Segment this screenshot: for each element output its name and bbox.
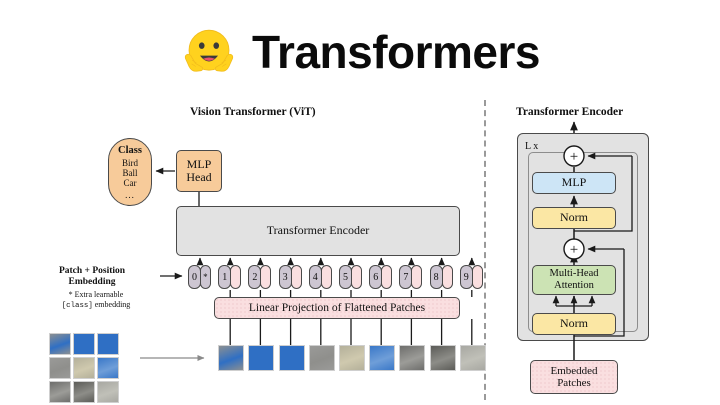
- class-item-car: Car: [124, 178, 137, 188]
- token-chip: 5: [339, 264, 362, 290]
- mha-line2: Attention: [554, 280, 594, 292]
- brand-header: Transformers: [0, 16, 720, 88]
- encoder-norm-top-block: Norm: [532, 207, 616, 229]
- flattened-patch: [460, 345, 486, 371]
- encoder-mlp-block: MLP: [532, 172, 616, 194]
- patch-position-embedding-label: Patch + Position Embedding: [28, 266, 156, 288]
- position-embedding-chip: [472, 265, 483, 289]
- flattened-patch: [430, 345, 456, 371]
- source-image-patch: [73, 381, 95, 403]
- position-embedding-chip: [291, 265, 302, 289]
- source-image-patch: [73, 357, 95, 379]
- mlp-head-line1: MLP: [187, 158, 212, 171]
- token-number: 8: [430, 265, 443, 289]
- embedded-patches-box: Embedded Patches: [530, 360, 618, 394]
- position-embedding-chip: [381, 265, 392, 289]
- token-chip: 8: [430, 264, 453, 290]
- position-embedding-chip: [411, 265, 422, 289]
- token-chip: 3: [279, 264, 302, 290]
- position-embedding-chip: [321, 265, 332, 289]
- class-item-bird: Bird: [122, 158, 138, 168]
- mlp-head-line2: Head: [186, 171, 211, 184]
- class-token-mono: [class]: [62, 302, 93, 310]
- token-chip: 4: [309, 264, 332, 290]
- slide-canvas: Transformers Vision Transformer (ViT) Tr…: [0, 0, 720, 405]
- extra-note-line2: [class] embedding: [34, 300, 158, 311]
- encoder-multi-head-attention-block: Multi-Head Attention: [532, 265, 616, 295]
- flattened-patch: [369, 345, 395, 371]
- position-embedding-chip: [351, 265, 362, 289]
- embedded-patches-line2: Patches: [557, 377, 591, 389]
- token-chip: 9: [460, 264, 483, 290]
- flattened-patch: [399, 345, 425, 371]
- source-image-patch: [97, 333, 119, 355]
- pp-label-line2: Embedding: [28, 277, 156, 288]
- token-chip: 6: [369, 264, 392, 290]
- position-embedding-chip: [260, 265, 271, 289]
- position-embedding-chip: [230, 265, 241, 289]
- token-number: 9: [460, 265, 473, 289]
- vit-panel-title: Vision Transformer (ViT): [190, 106, 316, 118]
- hugging-face-icon: [180, 23, 238, 81]
- source-image-patch: [49, 357, 71, 379]
- extra-note-line1: * Extra learnable: [34, 290, 158, 300]
- linear-projection-box: Linear Projection of Flattened Patches: [214, 297, 460, 319]
- token-chip: 1: [218, 264, 241, 290]
- token-embedding-row: 0*123456789: [188, 264, 478, 290]
- source-image-patch: [97, 357, 119, 379]
- extra-note-suffix: embedding: [95, 300, 131, 309]
- position-embedding-chip: [442, 265, 453, 289]
- source-image-patch: [49, 381, 71, 403]
- page-title: Transformers: [252, 29, 540, 75]
- flattened-patch: [309, 345, 335, 371]
- class-output-box: Class Bird Ball Car ...: [108, 138, 152, 206]
- flattened-patch: [248, 345, 274, 371]
- mlp-head-box: MLP Head: [176, 150, 222, 192]
- embedded-patches-line1: Embedded: [550, 365, 597, 377]
- source-image-patch: [73, 333, 95, 355]
- token-chip: 7: [399, 264, 422, 290]
- transformer-encoder-box: Transformer Encoder: [176, 206, 460, 256]
- encoder-panel-title: Transformer Encoder: [516, 106, 623, 118]
- flattened-patch: [279, 345, 305, 371]
- class-token-star: *: [200, 265, 211, 289]
- class-ellipsis: ...: [125, 190, 135, 200]
- extra-learnable-note: * Extra learnable [class] embedding: [34, 290, 158, 311]
- source-image-patch: [97, 381, 119, 403]
- token-number: 4: [309, 265, 322, 289]
- class-heading: Class: [118, 145, 142, 157]
- encoder-norm-bottom-block: Norm: [532, 313, 616, 335]
- class-item-ball: Ball: [123, 168, 138, 178]
- source-image-patch: [49, 333, 71, 355]
- token-chip: 2: [248, 264, 271, 290]
- flattened-patch: [218, 345, 244, 371]
- token-number: 3: [279, 265, 292, 289]
- encoder-repeat-label: L x: [525, 141, 538, 152]
- mha-line1: Multi-Head: [550, 268, 599, 280]
- pp-label-line1: Patch + Position: [28, 266, 156, 277]
- flattened-patch: [339, 345, 365, 371]
- token-chip: 0*: [188, 264, 211, 290]
